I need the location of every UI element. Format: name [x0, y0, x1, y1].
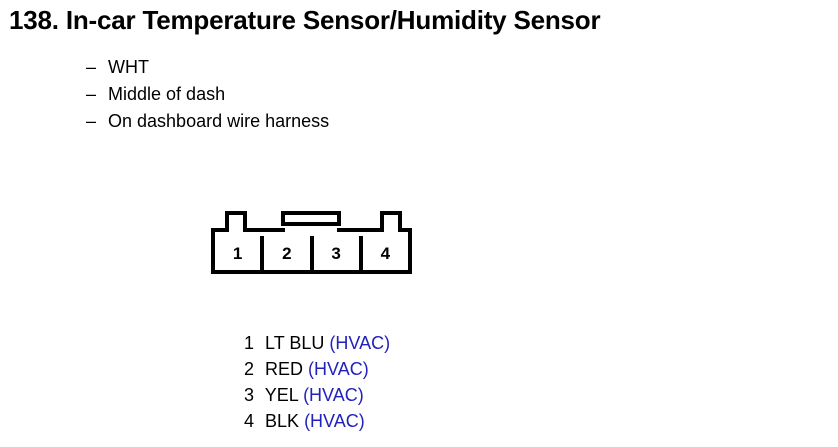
dash-icon: – — [86, 54, 103, 81]
connector-latch-tab — [281, 211, 341, 226]
pin-circuit-source: (HVAC) — [304, 411, 365, 431]
pin-assignment-row: 2 RED (HVAC) — [244, 356, 390, 382]
list-item-label: WHT — [108, 57, 149, 77]
pin-circuit-source: (HVAC) — [303, 385, 364, 405]
pin-number: 4 — [381, 245, 390, 262]
page-title: 138. In-car Temperature Sensor/Humidity … — [9, 5, 600, 35]
list-item-label: Middle of dash — [108, 84, 225, 104]
list-item: – On dashboard wire harness — [86, 108, 329, 135]
pin-number: 2 — [282, 245, 291, 262]
list-item-label: On dashboard wire harness — [108, 111, 329, 131]
pin-number: 3 — [244, 382, 260, 408]
pin-number: 3 — [331, 245, 340, 262]
connector-pin-2: 2 — [260, 236, 309, 270]
pin-wire-color: BLK — [265, 411, 299, 431]
description-list: – WHT – Middle of dash – On dashboard wi… — [86, 54, 329, 135]
pin-number: 1 — [244, 330, 260, 356]
tab-join-right — [384, 226, 398, 232]
connector-pin-4: 4 — [359, 236, 408, 270]
pin-wire-color: LT BLU — [265, 333, 324, 353]
connector-diagram: 1 2 3 4 — [211, 211, 416, 276]
pin-number: 1 — [233, 245, 242, 262]
pin-assignment-row: 4 BLK (HVAC) — [244, 408, 390, 434]
dash-icon: – — [86, 108, 103, 135]
pin-assignment-list: 1 LT BLU (HVAC) 2 RED (HVAC) 3 YEL (HVAC… — [244, 330, 390, 434]
tab-join-left — [229, 226, 243, 232]
list-item: – WHT — [86, 54, 329, 81]
pin-circuit-source: (HVAC) — [308, 359, 369, 379]
connector-pin-3: 3 — [310, 236, 359, 270]
pin-assignment-row: 3 YEL (HVAC) — [244, 382, 390, 408]
list-item: – Middle of dash — [86, 81, 329, 108]
pin-wire-color: YEL — [265, 385, 298, 405]
dash-icon: – — [86, 81, 103, 108]
tab-join-latch — [285, 226, 337, 232]
pin-number: 2 — [244, 356, 260, 382]
connector-pin-cells: 1 2 3 4 — [215, 236, 408, 270]
pin-number: 4 — [244, 408, 260, 434]
pin-wire-color: RED — [265, 359, 303, 379]
pin-assignment-row: 1 LT BLU (HVAC) — [244, 330, 390, 356]
pin-circuit-source: (HVAC) — [329, 333, 390, 353]
connector-pin-1: 1 — [215, 236, 260, 270]
